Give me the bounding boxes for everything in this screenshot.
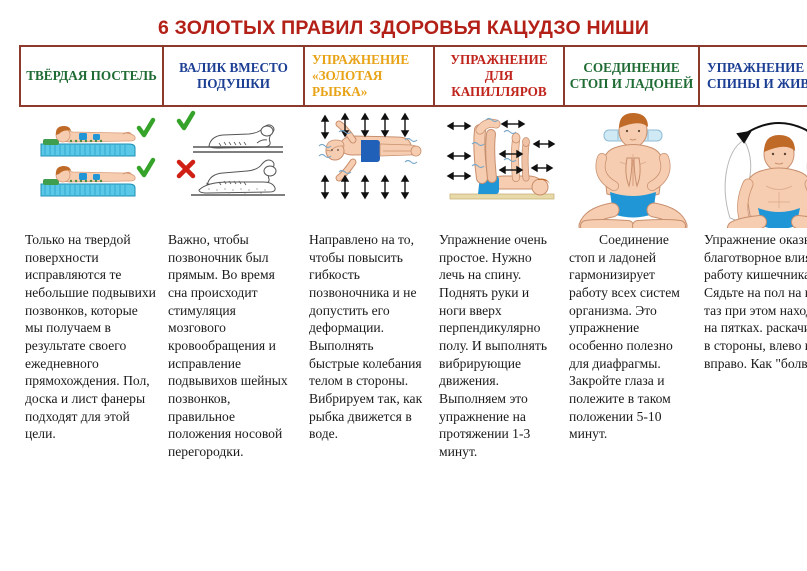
header-cell-goldfish: УПРАЖНЕНИЕ «ЗОЛОТАЯ РЫБКА» (304, 46, 434, 106)
goldfish-exercise-illustration (306, 110, 432, 228)
rules-table: ТВЁРДАЯ ПОСТЕЛЬ ВАЛИК ВМЕСТО ПОДУШКИ УПР… (19, 45, 807, 461)
body-text-back-abdomen: Упражнение оказывает благотворное влияни… (699, 228, 807, 461)
illustration-cell-back-abdomen (699, 106, 807, 228)
header-cell-capillaries: УПРАЖНЕНИЕ ДЛЯ КАПИЛЛЯРОВ (434, 46, 564, 106)
illustration-cell-goldfish (304, 106, 434, 228)
body-text-roller-pillow: Важно, чтобы позвоночник был прямым. Во … (163, 228, 304, 461)
swaying-figure-illustration (701, 110, 807, 228)
palms-and-soles-illustration (566, 110, 697, 228)
cross-icon (179, 162, 193, 176)
body-text-capillaries: Упражнение очень простое. Нужно лечь на … (434, 228, 564, 461)
body-text-firm-bed: Только на твердой поверхности исправляют… (20, 228, 163, 461)
check-icon (179, 113, 193, 128)
body-text-soles-palms: Соединение стоп и ладоней гармонизирует … (564, 228, 699, 461)
check-icon (139, 120, 153, 175)
header-cell-back-abdomen: УПРАЖНЕНИЕ ДЛЯ СПИНЫ И ЖИВОТА (699, 46, 807, 106)
illustration-cell-firm-bed (20, 106, 163, 228)
table-header-row: ТВЁРДАЯ ПОСТЕЛЬ ВАЛИК ВМЕСТО ПОДУШКИ УПР… (20, 46, 807, 106)
table-body-row: Только на твердой поверхности исправляют… (20, 228, 807, 461)
page-title: 6 ЗОЛОТЫХ ПРАВИЛ ЗДОРОВЬЯ КАЦУДЗО НИШИ (0, 0, 807, 47)
roller-vs-pillow-illustration (165, 110, 302, 228)
illustration-cell-capillaries (434, 106, 564, 228)
figure-on-firm-mattress-illustration (22, 110, 161, 228)
header-cell-roller-pillow: ВАЛИК ВМЕСТО ПОДУШКИ (163, 46, 304, 106)
illustration-cell-roller-pillow (163, 106, 304, 228)
header-cell-firm-bed: ТВЁРДАЯ ПОСТЕЛЬ (20, 46, 163, 106)
capillary-exercise-illustration (436, 110, 562, 228)
header-cell-soles-palms: СОЕДИНЕНИЕ СТОП И ЛАДОНЕЙ (564, 46, 699, 106)
table-illustration-row (20, 106, 807, 228)
illustration-cell-soles-palms (564, 106, 699, 228)
body-text-goldfish: Направлено на то, чтобы повысить гибкост… (304, 228, 434, 461)
